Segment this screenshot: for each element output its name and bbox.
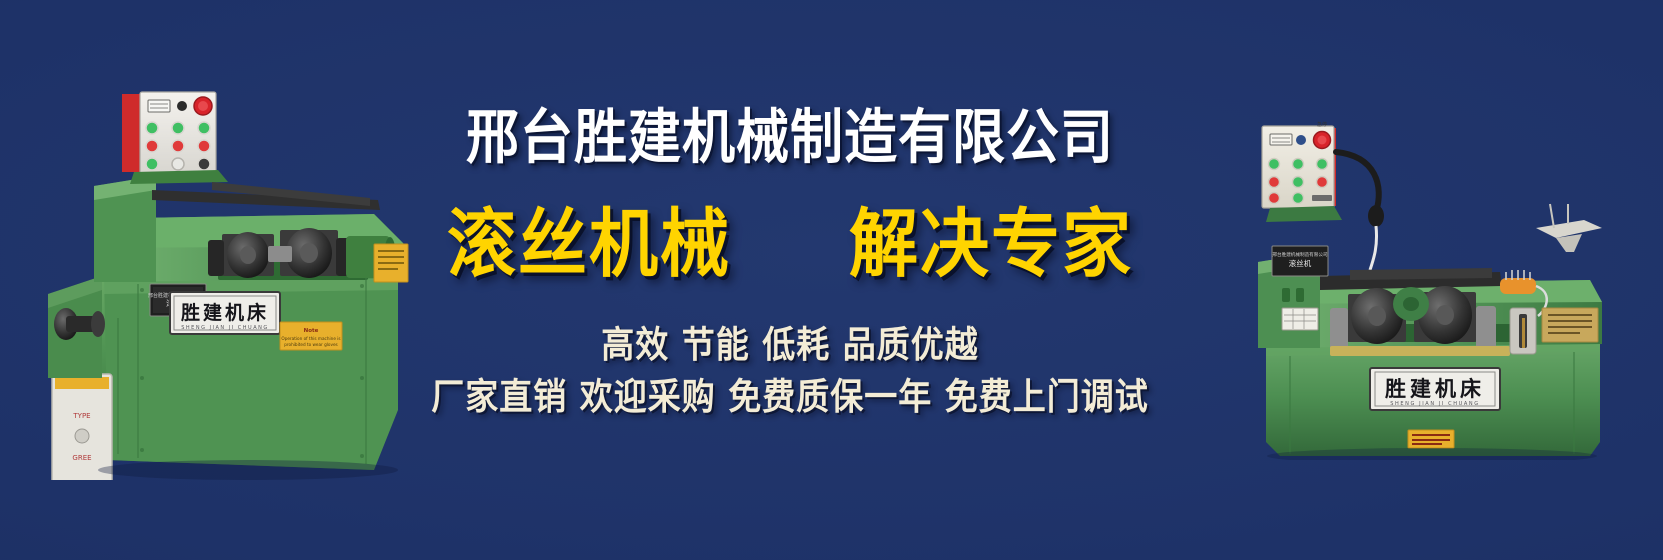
thread-rolling-machine-left-illustration: TYPE GREE 邢台胜建机械制造有限公司 滚丝机: [22, 78, 426, 480]
thread-rolling-machine-right-illustration: 急停: [1170, 112, 1610, 460]
headline: 滚丝机械 解决专家: [380, 208, 1200, 277]
svg-text:SHENG JIAN JI CHUANG: SHENG JIAN JI CHUANG: [1390, 401, 1479, 407]
control-panel-right: 急停: [1262, 121, 1336, 208]
svg-text:胜建机床: 胜建机床: [1385, 377, 1485, 401]
nameplate-right: 胜建机床 SHENG JIAN JI CHUANG: [1370, 368, 1500, 410]
subheading-services: 厂家直销 欢迎采购 免费质保一年 免费上门调试: [380, 378, 1200, 414]
promotional-banner: TYPE GREE 邢台胜建机械制造有限公司 滚丝机: [0, 0, 1663, 560]
subheading-features: 高效 节能 低耗 品质优越: [380, 326, 1200, 362]
nameplate-left: 胜建机床 SHENG JIAN JI CHUANG: [170, 292, 280, 334]
machine-image-right: 急停: [1170, 112, 1610, 460]
headline-part-expert: 解决专家: [849, 208, 1133, 283]
svg-text:prohibited to wear gloves: prohibited to wear gloves: [284, 342, 337, 347]
svg-text:Operation of this machine is: Operation of this machine is: [281, 336, 340, 341]
control-panel-left: [122, 92, 216, 174]
svg-text:SHENG JIAN JI CHUANG: SHENG JIAN JI CHUANG: [181, 325, 268, 331]
machine-image-left: TYPE GREE 邢台胜建机械制造有限公司 滚丝机: [22, 78, 426, 480]
banner-text-block: 邢台胜建机械制造有限公司 滚丝机械 解决专家 高效 节能 低耗 品质优越 厂家直…: [380, 0, 1200, 560]
svg-text:TYPE: TYPE: [72, 412, 90, 420]
company-name: 邢台胜建机械制造有限公司: [380, 108, 1200, 167]
warning-plate-right: [1408, 430, 1454, 448]
svg-text:GREE: GREE: [72, 454, 91, 462]
svg-text:Note: Note: [304, 328, 319, 334]
svg-text:邢台胜建机械制造有限公司: 邢台胜建机械制造有限公司: [1272, 251, 1328, 258]
svg-text:急停: 急停: [1317, 121, 1327, 128]
headline-part-product: 滚丝机械: [447, 208, 731, 283]
warning-plate-left: Note Operation of this machine is prohib…: [280, 322, 342, 350]
svg-text:滚丝机: 滚丝机: [1289, 258, 1312, 268]
svg-text:胜建机床: 胜建机床: [181, 301, 269, 324]
